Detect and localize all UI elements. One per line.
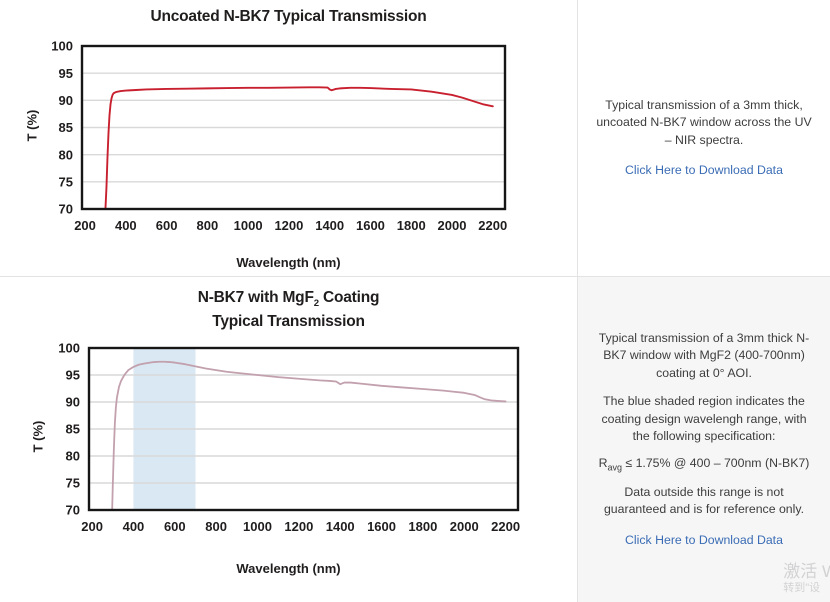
x-tick-label-200: 200 — [74, 218, 96, 233]
chart-title-mgf2: N-BK7 with MgF2 CoatingTypical Transmiss… — [0, 287, 577, 333]
y-tick-label-75: 75 — [66, 476, 80, 491]
x-tick-label-800: 800 — [197, 218, 219, 233]
chart-title-mgf2-line1: N-BK7 with MgF2 Coating — [0, 287, 577, 311]
x-tick-label-1400: 1400 — [315, 218, 344, 233]
y-tick-label-75: 75 — [59, 174, 73, 189]
x-tick-label-1800: 1800 — [397, 218, 426, 233]
y-tick-label-100: 100 — [58, 341, 80, 356]
uncoated-chart-cell: Uncoated N-BK7 Typical Transmission 7075… — [0, 0, 578, 276]
spec-subscript: avg — [607, 463, 622, 473]
y-axis-label-mgf2: T (%) — [31, 417, 46, 457]
mgf2-subscript: 2 — [314, 298, 319, 309]
mgf2-transmission-plot: 7075808590951002004006008001000120014001… — [0, 339, 578, 579]
x-axis-label-uncoated: Wavelength (nm) — [0, 255, 577, 270]
uncoated-section: Uncoated N-BK7 Typical Transmission 7075… — [0, 0, 830, 277]
mgf2-shaded-region-note: The blue shaded region indicates the coa… — [592, 393, 816, 445]
mgf2-info-panel: Typical transmission of a 3mm thick N-BK… — [578, 277, 830, 602]
y-tick-label-95: 95 — [66, 368, 80, 383]
x-axis-label-mgf2: Wavelength (nm) — [0, 561, 577, 576]
x-tick-label-400: 400 — [123, 519, 145, 534]
y-tick-label-90: 90 — [59, 93, 73, 108]
chart-title-uncoated: Uncoated N-BK7 Typical Transmission — [0, 8, 577, 26]
mgf2-coated-section: N-BK7 with MgF2 CoatingTypical Transmiss… — [0, 277, 830, 602]
y-tick-label-70: 70 — [66, 503, 80, 518]
x-tick-label-600: 600 — [156, 218, 178, 233]
x-tick-label-200: 200 — [81, 519, 103, 534]
uncoated-info-panel: Typical transmission of a 3mm thick, unc… — [578, 0, 830, 276]
x-tick-label-2200: 2200 — [491, 519, 520, 534]
y-tick-label-85: 85 — [59, 120, 73, 135]
y-tick-label-100: 100 — [51, 39, 73, 54]
mgf2-reflectance-spec: Ravg ≤ 1.75% @ 400 – 700nm (N-BK7) — [599, 456, 810, 472]
x-tick-label-1200: 1200 — [284, 519, 313, 534]
x-tick-label-1000: 1000 — [234, 218, 263, 233]
x-tick-label-1600: 1600 — [367, 519, 396, 534]
x-tick-label-800: 800 — [205, 519, 227, 534]
mgf2-description: Typical transmission of a 3mm thick N-BK… — [592, 330, 816, 382]
download-data-link-uncoated[interactable]: Click Here to Download Data — [625, 162, 783, 179]
uncoated-transmission-plot: 7075808590951002004006008001000120014001… — [0, 30, 578, 270]
chart-title-mgf2-line2: Typical Transmission — [0, 311, 577, 333]
x-tick-label-1400: 1400 — [326, 519, 355, 534]
y-tick-label-80: 80 — [59, 147, 73, 162]
download-data-link-mgf2[interactable]: Click Here to Download Data — [625, 532, 783, 549]
y-tick-label-85: 85 — [66, 422, 80, 437]
transmission-charts-page: Uncoated N-BK7 Typical Transmission 7075… — [0, 0, 830, 602]
uncoated-description: Typical transmission of a 3mm thick, unc… — [592, 97, 816, 149]
x-tick-label-2200: 2200 — [478, 218, 507, 233]
x-tick-label-600: 600 — [164, 519, 186, 534]
x-tick-label-400: 400 — [115, 218, 137, 233]
x-tick-label-1000: 1000 — [243, 519, 272, 534]
y-tick-label-90: 90 — [66, 395, 80, 410]
spec-value: ≤ 1.75% @ 400 – 700nm (N-BK7) — [622, 456, 809, 470]
y-axis-label-uncoated: T (%) — [25, 106, 40, 146]
y-tick-label-80: 80 — [66, 449, 80, 464]
mgf2-chart-cell: N-BK7 with MgF2 CoatingTypical Transmiss… — [0, 277, 578, 602]
x-tick-label-1600: 1600 — [356, 218, 385, 233]
x-tick-label-2000: 2000 — [438, 218, 467, 233]
x-tick-label-2000: 2000 — [450, 519, 479, 534]
x-tick-label-1800: 1800 — [408, 519, 437, 534]
x-tick-label-1200: 1200 — [274, 218, 303, 233]
mgf2-reference-note: Data outside this range is not guarantee… — [592, 484, 816, 519]
y-tick-label-95: 95 — [59, 66, 73, 81]
y-tick-label-70: 70 — [59, 202, 73, 217]
